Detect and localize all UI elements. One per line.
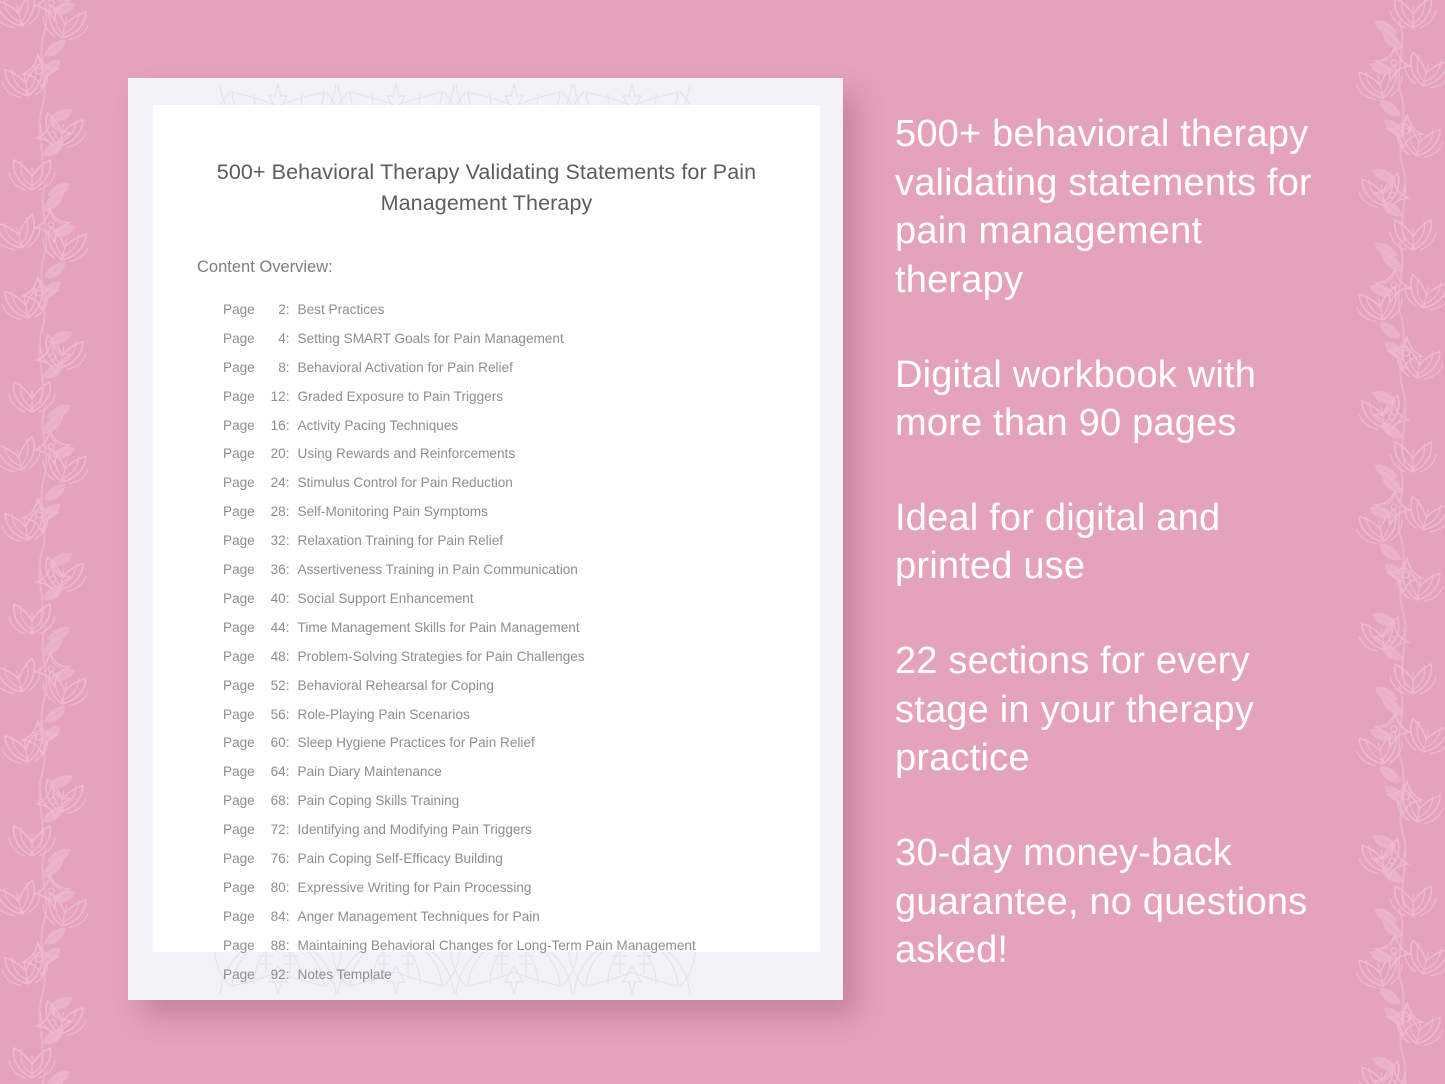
- toc-entry-colon: :: [286, 961, 290, 990]
- toc-entry-page-word: Page: [223, 383, 255, 412]
- toc-entry: Page12:Graded Exposure to Pain Triggers: [223, 383, 820, 412]
- toc-entry-colon: :: [286, 412, 290, 441]
- toc-entry-page-number: 52: [260, 672, 286, 701]
- promo-block: Ideal for digital and printed use: [895, 494, 1325, 591]
- toc-entry-title: Pain Diary Maintenance: [298, 758, 442, 787]
- toc-entry-title: Best Practices: [298, 296, 385, 325]
- toc-entry-title: Time Management Skills for Pain Manageme…: [298, 614, 580, 643]
- promo-block: 22 sections for every stage in your ther…: [895, 637, 1325, 783]
- toc-entry-colon: :: [286, 498, 290, 527]
- promo-block: Digital workbook with more than 90 pages: [895, 351, 1325, 448]
- promo-panel: 500+ behavioral therapy validating state…: [895, 110, 1325, 975]
- toc-entry-title: Pain Coping Self-Efficacy Building: [298, 845, 503, 874]
- toc-entry-colon: :: [286, 556, 290, 585]
- toc-entry: Page64:Pain Diary Maintenance: [223, 758, 820, 787]
- toc-entry: Page52:Behavioral Rehearsal for Coping: [223, 672, 820, 701]
- toc-entry-colon: :: [286, 787, 290, 816]
- toc-entry-page-word: Page: [223, 643, 255, 672]
- toc-entry-title: Social Support Enhancement: [298, 585, 474, 614]
- toc-entry-page-number: 56: [260, 701, 286, 730]
- toc-entry-page-word: Page: [223, 903, 255, 932]
- toc-entry-page-word: Page: [223, 672, 255, 701]
- toc-entry-title: Problem-Solving Strategies for Pain Chal…: [298, 643, 585, 672]
- toc-entry: Page4:Setting SMART Goals for Pain Manag…: [223, 325, 820, 354]
- toc-entry: Page92:Notes Template: [223, 961, 820, 990]
- toc-entry-colon: :: [286, 932, 290, 961]
- toc-entry-page-word: Page: [223, 961, 255, 990]
- toc-entry-colon: :: [286, 383, 290, 412]
- toc-entry: Page32:Relaxation Training for Pain Reli…: [223, 527, 820, 556]
- toc-entry-colon: :: [286, 440, 290, 469]
- toc-entry-colon: :: [286, 354, 290, 383]
- toc-entry-page-number: 84: [260, 903, 286, 932]
- toc-entry-page-word: Page: [223, 469, 255, 498]
- toc-entry-title: Assertiveness Training in Pain Communica…: [298, 556, 578, 585]
- toc-entry-title: Behavioral Rehearsal for Coping: [298, 672, 494, 701]
- toc-entry-colon: :: [286, 643, 290, 672]
- toc-entry-title: Self-Monitoring Pain Symptoms: [298, 498, 488, 527]
- document-page: 500+ Behavioral Therapy Validating State…: [153, 105, 820, 952]
- toc-entry-page-number: 32: [260, 527, 286, 556]
- toc-entry: Page20:Using Rewards and Reinforcements: [223, 440, 820, 469]
- toc-entry-page-number: 72: [260, 816, 286, 845]
- toc-entry-colon: :: [286, 527, 290, 556]
- toc-entry: Page88:Maintaining Behavioral Changes fo…: [223, 932, 820, 961]
- toc-entry-colon: :: [286, 874, 290, 903]
- toc-entry-page-word: Page: [223, 498, 255, 527]
- toc-entry-page-word: Page: [223, 816, 255, 845]
- toc-entry-page-number: 68: [260, 787, 286, 816]
- toc-entry-page-number: 44: [260, 614, 286, 643]
- toc-entry-title: Maintaining Behavioral Changes for Long-…: [298, 932, 696, 961]
- toc-entry-page-word: Page: [223, 845, 255, 874]
- toc-entry-page-number: 8: [260, 354, 286, 383]
- toc-entry-page-number: 76: [260, 845, 286, 874]
- toc-entry-title: Role-Playing Pain Scenarios: [298, 701, 470, 730]
- toc-entry-title: Relaxation Training for Pain Relief: [298, 527, 504, 556]
- toc-entry-page-number: 20: [260, 440, 286, 469]
- toc-entry-page-number: 28: [260, 498, 286, 527]
- toc-entry: Page48:Problem-Solving Strategies for Pa…: [223, 643, 820, 672]
- toc-entry-page-word: Page: [223, 354, 255, 383]
- toc-entry: Page68:Pain Coping Skills Training: [223, 787, 820, 816]
- toc-entry-colon: :: [286, 296, 290, 325]
- toc-entry-title: Pain Coping Skills Training: [298, 787, 460, 816]
- toc-entry-page-number: 48: [260, 643, 286, 672]
- promo-block: 30-day money-back guarantee, no question…: [895, 829, 1325, 975]
- toc-entry-colon: :: [286, 816, 290, 845]
- content-overview-label: Content Overview:: [153, 218, 820, 277]
- toc-entry-page-word: Page: [223, 527, 255, 556]
- toc-entry-colon: :: [286, 903, 290, 932]
- toc-entry-page-word: Page: [223, 932, 255, 961]
- toc-entry-page-word: Page: [223, 412, 255, 441]
- toc-entry: Page84:Anger Management Techniques for P…: [223, 903, 820, 932]
- toc-entry-page-number: 2: [260, 296, 286, 325]
- toc-entry-colon: :: [286, 585, 290, 614]
- toc-entry-page-word: Page: [223, 614, 255, 643]
- toc-entry: Page8:Behavioral Activation for Pain Rel…: [223, 354, 820, 383]
- toc-entry-page-word: Page: [223, 296, 255, 325]
- toc-entry-page-word: Page: [223, 440, 255, 469]
- toc-entry-page-word: Page: [223, 556, 255, 585]
- toc-entry: Page40:Social Support Enhancement: [223, 585, 820, 614]
- toc-entry-page-number: 40: [260, 585, 286, 614]
- toc-entry-page-word: Page: [223, 729, 255, 758]
- toc-entry-page-word: Page: [223, 758, 255, 787]
- toc-entry-colon: :: [286, 469, 290, 498]
- toc-entry-page-number: 80: [260, 874, 286, 903]
- toc-entry-page-number: 64: [260, 758, 286, 787]
- toc-entry-page-number: 24: [260, 469, 286, 498]
- toc-entry-title: Setting SMART Goals for Pain Management: [298, 325, 564, 354]
- toc-entry-colon: :: [286, 614, 290, 643]
- toc-entry-page-number: 92: [260, 961, 286, 990]
- toc-entry-colon: :: [286, 845, 290, 874]
- toc-entry: Page76:Pain Coping Self-Efficacy Buildin…: [223, 845, 820, 874]
- toc-entry-title: Expressive Writing for Pain Processing: [298, 874, 532, 903]
- toc-entry-title: Anger Management Techniques for Pain: [298, 903, 540, 932]
- floral-border-left: [0, 0, 130, 1084]
- page-title: 500+ Behavioral Therapy Validating State…: [153, 105, 820, 218]
- toc-entry: Page60:Sleep Hygiene Practices for Pain …: [223, 729, 820, 758]
- toc-entry: Page56:Role-Playing Pain Scenarios: [223, 701, 820, 730]
- floral-border-right: [1315, 0, 1445, 1084]
- toc-entry-title: Activity Pacing Techniques: [298, 412, 459, 441]
- toc-entry-page-number: 36: [260, 556, 286, 585]
- toc-entry-colon: :: [286, 325, 290, 354]
- toc-entry-colon: :: [286, 672, 290, 701]
- toc-entry-page-number: 88: [260, 932, 286, 961]
- toc-entry-title: Graded Exposure to Pain Triggers: [298, 383, 504, 412]
- toc-entry-colon: :: [286, 758, 290, 787]
- toc-entry-page-word: Page: [223, 787, 255, 816]
- toc-entry-title: Stimulus Control for Pain Reduction: [298, 469, 513, 498]
- toc-entry: Page28:Self-Monitoring Pain Symptoms: [223, 498, 820, 527]
- toc-entry-page-number: 12: [260, 383, 286, 412]
- toc-entry: Page16:Activity Pacing Techniques: [223, 412, 820, 441]
- toc-entry-title: Identifying and Modifying Pain Triggers: [298, 816, 532, 845]
- toc-entry: Page36:Assertiveness Training in Pain Co…: [223, 556, 820, 585]
- toc-entry-page-word: Page: [223, 701, 255, 730]
- toc-entry-colon: :: [286, 701, 290, 730]
- toc-entry-colon: :: [286, 729, 290, 758]
- table-of-contents: Page2:Best PracticesPage4:Setting SMART …: [153, 277, 820, 989]
- toc-entry-title: Using Rewards and Reinforcements: [298, 440, 516, 469]
- toc-entry: Page24:Stimulus Control for Pain Reducti…: [223, 469, 820, 498]
- toc-entry-page-word: Page: [223, 874, 255, 903]
- promo-block: 500+ behavioral therapy validating state…: [895, 110, 1325, 305]
- document-card: 500+ Behavioral Therapy Validating State…: [128, 78, 843, 1000]
- toc-entry-page-number: 16: [260, 412, 286, 441]
- toc-entry: Page80:Expressive Writing for Pain Proce…: [223, 874, 820, 903]
- toc-entry-title: Behavioral Activation for Pain Relief: [298, 354, 513, 383]
- toc-entry-page-word: Page: [223, 325, 255, 354]
- toc-entry-title: Sleep Hygiene Practices for Pain Relief: [298, 729, 535, 758]
- toc-entry-page-number: 60: [260, 729, 286, 758]
- toc-entry: Page44:Time Management Skills for Pain M…: [223, 614, 820, 643]
- toc-entry-page-number: 4: [260, 325, 286, 354]
- toc-entry: Page72:Identifying and Modifying Pain Tr…: [223, 816, 820, 845]
- toc-entry-title: Notes Template: [298, 961, 392, 990]
- toc-entry-page-word: Page: [223, 585, 255, 614]
- toc-entry: Page2:Best Practices: [223, 296, 820, 325]
